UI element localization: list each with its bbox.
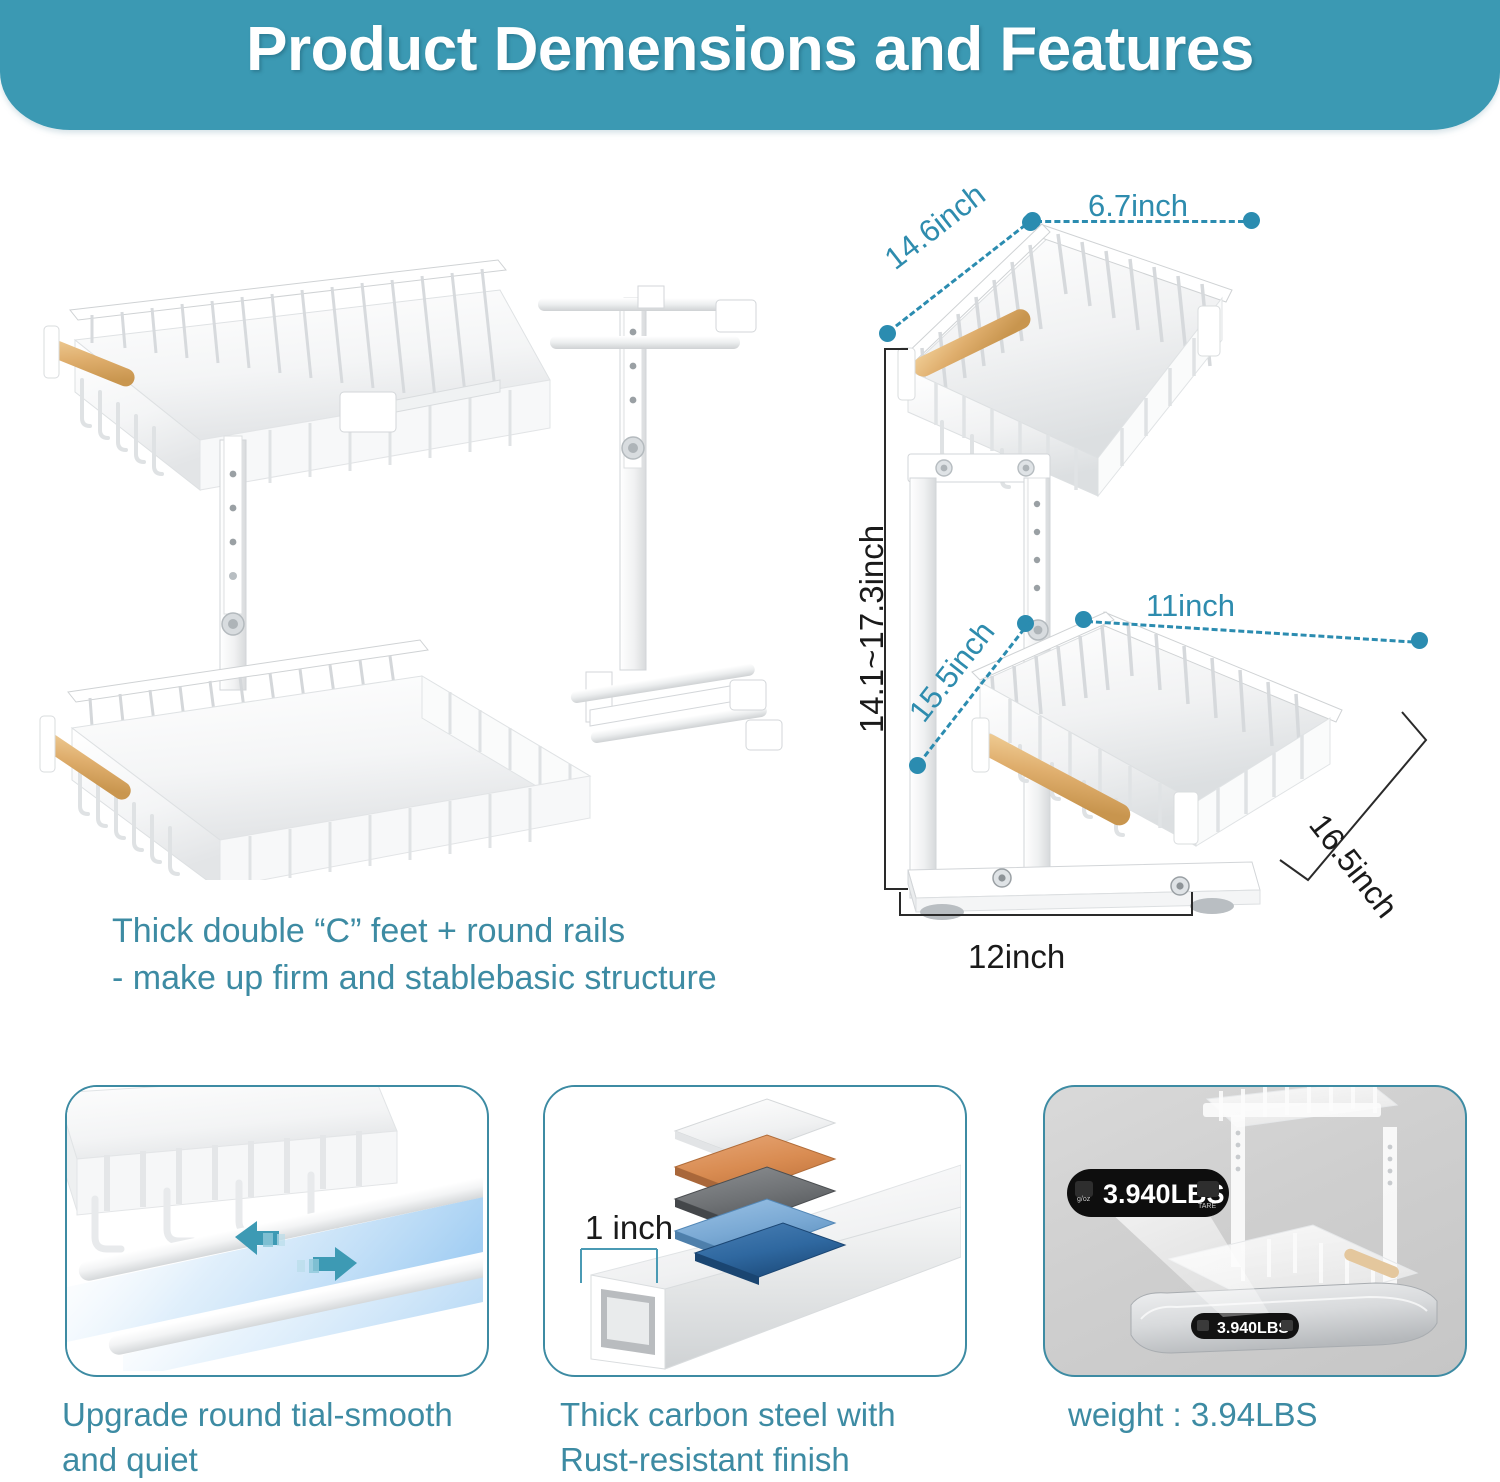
tare-button-icon: TARE bbox=[1197, 1181, 1219, 1210]
scale-display-magnified: 3.940LBS g/oz TARE bbox=[1067, 1169, 1229, 1217]
lower-basket bbox=[38, 640, 590, 880]
dim-label-top-basket-width: 6.7inch bbox=[1088, 188, 1188, 224]
page-title: Product Demensions and Features bbox=[0, 14, 1500, 85]
left-caption: Thick double “C” feet + round rails - ma… bbox=[112, 908, 752, 1002]
bolt-left bbox=[222, 613, 244, 635]
dim-bracket-base-width bbox=[899, 892, 1193, 916]
header-banner: Product Demensions and Features bbox=[0, 0, 1500, 130]
lower-round-rails-and-c-feet bbox=[570, 663, 782, 750]
left-product-illustration bbox=[30, 240, 820, 880]
left-caption-line-1: Thick double “C” feet + round rails bbox=[112, 908, 752, 955]
dim-label-overall-height: 14.1~17.3inch bbox=[853, 525, 891, 733]
feature-1-line-1: Upgrade round tial-smooth bbox=[62, 1392, 502, 1437]
scale-display-small: 3.940LBS bbox=[1217, 1320, 1289, 1337]
dim-dot-top-right bbox=[1243, 212, 1260, 229]
feature-caption-sliding-rails: Upgrade round tial-smooth and quiet bbox=[62, 1392, 502, 1482]
feature-panel-weight: 3.940LBS 3.940LBS g/oz TARE bbox=[1043, 1085, 1467, 1377]
feature-2-line-2: Rust-resistant finish bbox=[560, 1437, 1000, 1482]
upper-basket bbox=[44, 260, 550, 490]
tube-label-text: 1 inch bbox=[585, 1209, 673, 1246]
feature-panel-carbon-steel: 1 inch bbox=[543, 1085, 967, 1377]
dim-label-bottom-basket-width: 11inch bbox=[1146, 588, 1235, 624]
feature-2-line-1: Thick carbon steel with bbox=[560, 1392, 1000, 1437]
feature-caption-carbon-steel: Thick carbon steel with Rust-resistant f… bbox=[560, 1392, 1000, 1482]
digital-scale: 3.940LBS bbox=[1131, 1283, 1437, 1353]
left-caption-line-2: - make up firm and stablebasic structure bbox=[112, 955, 752, 1002]
dim-dot-bottom-width-right bbox=[1411, 632, 1428, 649]
svg-text:g/oz: g/oz bbox=[1077, 1196, 1091, 1203]
feature-panel-sliding-rails bbox=[65, 1085, 489, 1377]
dim-label-base-width: 12inch bbox=[968, 938, 1065, 976]
bolt-right bbox=[622, 437, 644, 459]
feature-caption-weight: weight : 3.94LBS bbox=[1068, 1392, 1500, 1437]
feature-3-line-1: weight : 3.94LBS bbox=[1068, 1392, 1500, 1437]
svg-text:TARE: TARE bbox=[1198, 1203, 1216, 1210]
feature-1-line-2: and quiet bbox=[62, 1437, 502, 1482]
